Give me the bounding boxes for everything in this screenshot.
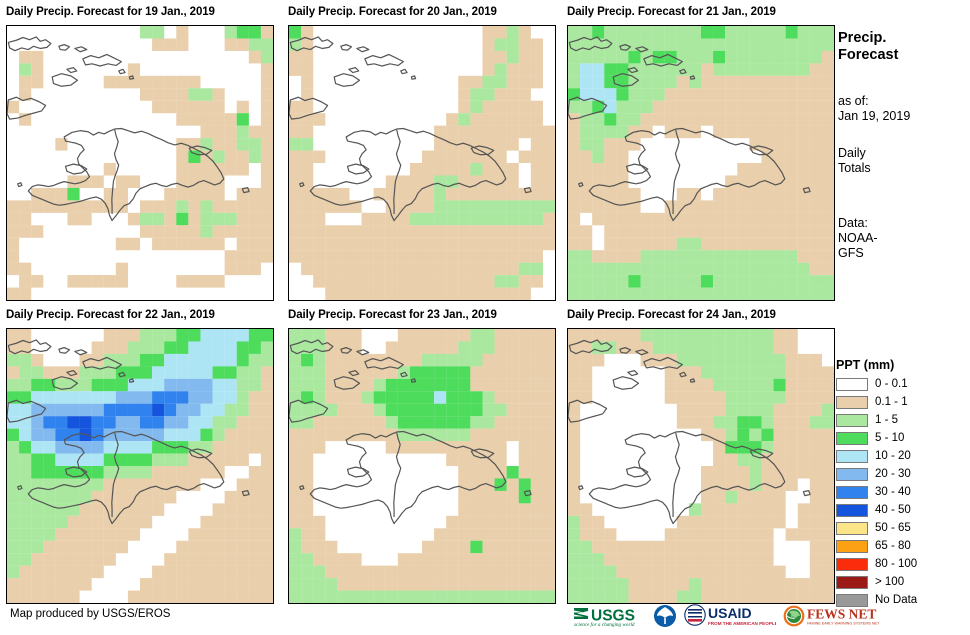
legend-label: 1 - 5 (875, 414, 898, 426)
legend-swatch (836, 450, 868, 463)
forecast-panel-5: Daily Precip. Forecast for 23 Jan., 2019 (288, 309, 560, 602)
legend-label: 40 - 50 (875, 504, 911, 516)
precip-raster (289, 329, 555, 603)
panel-title: Daily Precip. Forecast for 22 Jan., 2019 (6, 309, 215, 321)
map-frame[interactable] (6, 328, 274, 604)
svg-text:USAID: USAID (708, 605, 752, 621)
legend-label: 20 - 30 (875, 468, 911, 480)
legend-row: > 100 (836, 573, 970, 591)
map-frame[interactable] (288, 25, 556, 301)
noaa-logo[interactable] (653, 603, 677, 629)
legend-row: 1 - 5 (836, 411, 970, 429)
legend-row: 30 - 40 (836, 483, 970, 501)
forecast-panel-2: Daily Precip. Forecast for 20 Jan., 2019 (288, 6, 560, 299)
info-panel: Precip. Forecast as of: Jan 19, 2019 Dai… (838, 30, 968, 261)
forecast-panel-1: Daily Precip. Forecast for 19 Jan., 2019 (6, 6, 278, 299)
precip-raster (7, 329, 273, 603)
map-frame[interactable] (567, 25, 835, 301)
legend-label: 0 - 0.1 (875, 378, 908, 390)
usgs-logo[interactable]: USGS science for a changing world (572, 603, 646, 629)
legend-row: 65 - 80 (836, 537, 970, 555)
legend-swatch (836, 468, 868, 481)
legend-swatch (836, 576, 868, 589)
legend-row: 20 - 30 (836, 465, 970, 483)
legend-row: 0.1 - 1 (836, 393, 970, 411)
legend-label: 10 - 20 (875, 450, 911, 462)
legend-rows: 0 - 0.10.1 - 11 - 55 - 1010 - 2020 - 303… (836, 375, 970, 609)
map-frame[interactable] (6, 25, 274, 301)
legend-title: PPT (mm) (836, 358, 970, 372)
info-asof-date: Jan 19, 2019 (838, 109, 968, 124)
map-credit: Map produced by USGS/EROS (10, 608, 170, 620)
panel-title: Daily Precip. Forecast for 24 Jan., 2019 (567, 309, 776, 321)
legend-label: 80 - 100 (875, 558, 917, 570)
info-title-line2: Forecast (838, 47, 968, 64)
legend-row: 0 - 0.1 (836, 375, 970, 393)
precip-raster (568, 26, 834, 300)
info-data-line2: GFS (838, 246, 968, 261)
legend-label: No Data (875, 594, 917, 606)
legend-label: 5 - 10 (875, 432, 904, 444)
legend-swatch (836, 378, 868, 391)
info-totals-line1: Daily (838, 146, 968, 161)
svg-text:science for a changing world: science for a changing world (574, 621, 635, 628)
legend-label: 50 - 65 (875, 522, 911, 534)
agency-logos: USGS science for a changing world USAID … (572, 602, 879, 630)
info-totals-line2: Totals (838, 161, 968, 176)
usaid-logo[interactable]: USAID FROM THE AMERICAN PEOPLE (684, 603, 776, 629)
info-data-line1: NOAA- (838, 231, 968, 246)
panel-title: Daily Precip. Forecast for 20 Jan., 2019 (288, 6, 497, 18)
svg-text:FAMINE EARLY WARNING SYSTEMS N: FAMINE EARLY WARNING SYSTEMS NETWORK (807, 622, 879, 626)
svg-text:FROM THE AMERICAN PEOPLE: FROM THE AMERICAN PEOPLE (708, 621, 776, 626)
panel-title: Daily Precip. Forecast for 19 Jan., 2019 (6, 6, 215, 18)
legend-swatch (836, 396, 868, 409)
map-frame[interactable] (567, 328, 835, 604)
legend-swatch (836, 486, 868, 499)
svg-text:FEWS NET: FEWS NET (807, 607, 876, 622)
legend-swatch (836, 504, 868, 517)
info-asof-label: as of: (838, 94, 968, 109)
forecast-panel-4: Daily Precip. Forecast for 22 Jan., 2019 (6, 309, 278, 602)
legend-label: 65 - 80 (875, 540, 911, 552)
panel-title: Daily Precip. Forecast for 23 Jan., 2019 (288, 309, 497, 321)
map-frame[interactable] (288, 328, 556, 604)
legend-row: 40 - 50 (836, 501, 970, 519)
legend-row: 80 - 100 (836, 555, 970, 573)
legend-label: 0.1 - 1 (875, 396, 908, 408)
legend-row: 50 - 65 (836, 519, 970, 537)
forecast-panel-6: Daily Precip. Forecast for 24 Jan., 2019 (567, 309, 839, 602)
info-data-label: Data: (838, 216, 968, 231)
legend-swatch (836, 432, 868, 445)
legend-swatch (836, 414, 868, 427)
legend-label: 30 - 40 (875, 486, 911, 498)
legend-row: 10 - 20 (836, 447, 970, 465)
fewsnet-logo[interactable]: FEWS NET FAMINE EARLY WARNING SYSTEMS NE… (783, 603, 879, 629)
legend-swatch (836, 558, 868, 571)
precip-raster (568, 329, 834, 603)
legend-row: 5 - 10 (836, 429, 970, 447)
legend-label: > 100 (875, 576, 904, 588)
precip-raster (289, 26, 555, 300)
legend-swatch (836, 522, 868, 535)
info-title-line1: Precip. (838, 30, 968, 47)
panel-title: Daily Precip. Forecast for 21 Jan., 2019 (567, 6, 776, 18)
precip-raster (7, 26, 273, 300)
forecast-panel-3: Daily Precip. Forecast for 21 Jan., 2019 (567, 6, 839, 299)
legend-swatch (836, 540, 868, 553)
legend: PPT (mm) 0 - 0.10.1 - 11 - 55 - 1010 - 2… (836, 358, 970, 609)
